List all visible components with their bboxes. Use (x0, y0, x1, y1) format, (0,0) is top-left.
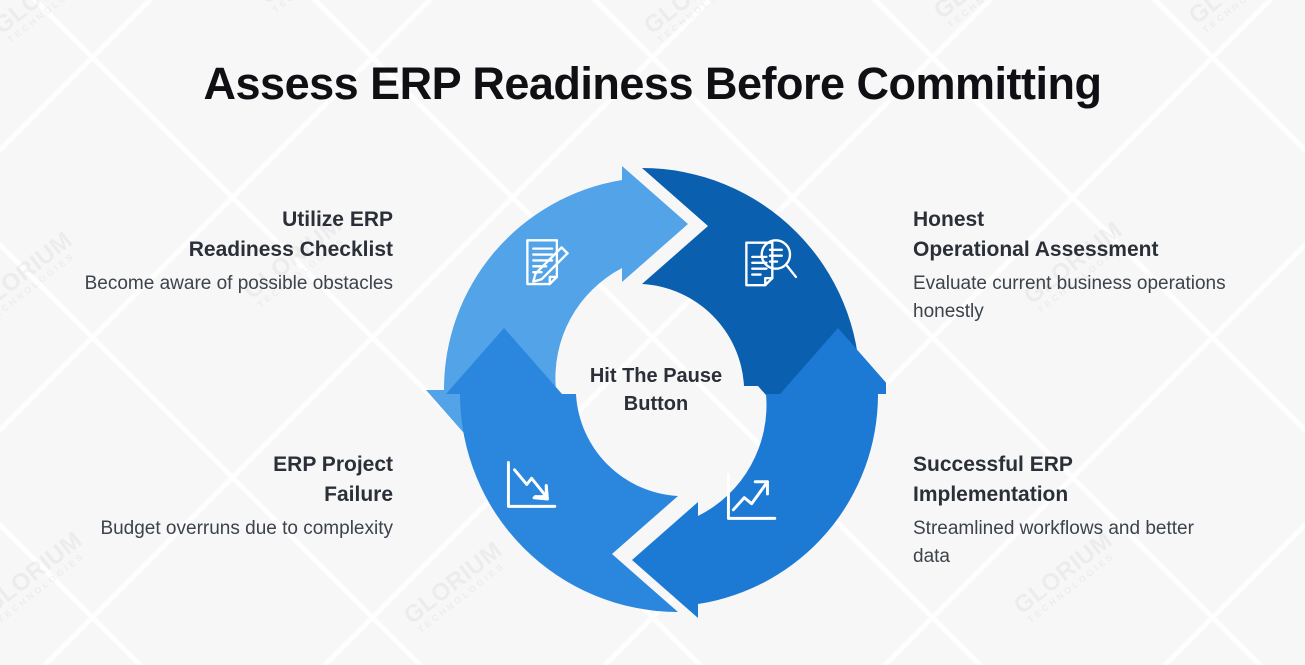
segment-description: Evaluate current business operations hon… (913, 270, 1233, 326)
segment-title-line2: Readiness Checklist (189, 238, 393, 261)
segment-title: Utilize ERP Readiness Checklist (80, 205, 393, 265)
segment-title-line1: Honest (913, 208, 984, 231)
segment-description: Budget overruns due to complexity (100, 515, 393, 543)
segment-title-line1: Utilize ERP (282, 208, 393, 231)
segment-description: Streamlined workflows and better data (913, 515, 1233, 571)
segment-title: Successful ERP Implementation (913, 450, 1233, 510)
segment-title-line1: ERP Project (273, 453, 393, 476)
segment-label-utilize-erp-readiness-checklist: Utilize ERP Readiness Checklist Become a… (80, 205, 393, 298)
cycle-diagram: Hit The Pause Button (426, 160, 886, 620)
segment-title-line2: Implementation (913, 483, 1068, 506)
segment-title-line1: Successful ERP (913, 453, 1073, 476)
segment-label-successful-erp-implementation: Successful ERP Implementation Streamline… (913, 450, 1233, 571)
segment-title: Honest Operational Assessment (913, 205, 1233, 265)
segment-label-honest-operational-assessment: Honest Operational Assessment Evaluate c… (913, 205, 1233, 326)
segment-title-line2: Failure (324, 483, 393, 506)
segment-title: ERP Project Failure (100, 450, 393, 510)
segment-description: Become aware of possible obstacles (80, 270, 393, 298)
segment-title-line2: Operational Assessment (913, 238, 1158, 261)
page-title: Assess ERP Readiness Before Committing (0, 58, 1305, 110)
segment-label-erp-project-failure: ERP Project Failure Budget overruns due … (100, 450, 393, 543)
